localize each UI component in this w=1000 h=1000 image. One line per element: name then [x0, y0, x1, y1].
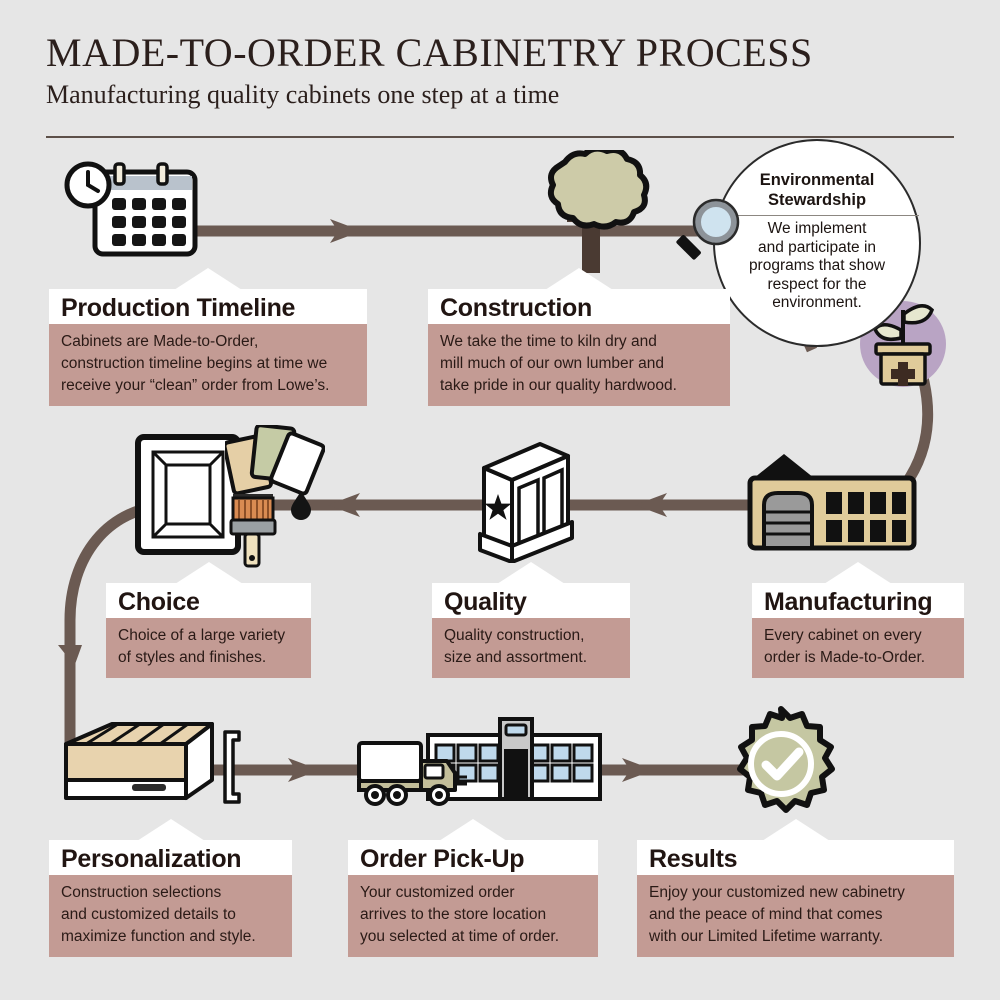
callout-title-line2: Stewardship [760, 191, 875, 210]
cabinet-pull-icon [215, 728, 249, 808]
card-title: Manufacturing [752, 583, 964, 618]
card-body-line: construction timeline begins at time we [61, 353, 355, 375]
card-title: Order Pick-Up [348, 840, 598, 875]
card-body-line: you selected at time of order. [360, 926, 586, 948]
card-body-line: Choice of a large variety [118, 625, 299, 647]
step-card-results[interactable]: Results Enjoy your customized new cabine… [637, 840, 954, 957]
card-body-line: Quality construction, [444, 625, 618, 647]
card-pointer [497, 562, 565, 584]
card-body-line: of styles and finishes. [118, 647, 299, 669]
callout-body-line: programs that show [749, 257, 885, 276]
card-title: Construction [428, 289, 730, 324]
factory-icon [742, 450, 922, 555]
callout-body-line: and participate in [749, 239, 885, 258]
callout-title-line1: Environmental [760, 171, 875, 190]
card-title: Results [637, 840, 954, 875]
calendar-clock-icon [60, 160, 210, 270]
callout-title: Environmental Stewardship [742, 171, 893, 210]
card-pointer [824, 562, 892, 584]
card-body-line: Construction selections [61, 882, 280, 904]
card-body-line: take pride in our quality hardwood. [440, 375, 718, 397]
step-card-manufacturing[interactable]: Manufacturing Every cabinet on every ord… [752, 583, 964, 678]
card-pointer [545, 268, 613, 290]
card-body-line: Every cabinet on every [764, 625, 952, 647]
paintbrush-icon [225, 490, 295, 570]
card-pointer [137, 819, 205, 841]
step-card-quality[interactable]: Quality Quality construction, size and a… [432, 583, 630, 678]
magnifier-icon [672, 198, 742, 270]
callout-divider [715, 215, 919, 216]
paint-drop-icon [288, 489, 314, 521]
infographic-canvas: MADE-TO-ORDER CABINETRY PROCESS Manufact… [0, 0, 1000, 1000]
card-body-line: Enjoy your customized new cabinetry [649, 882, 942, 904]
card-pointer [439, 819, 507, 841]
step-card-production-timeline[interactable]: Production Timeline Cabinets are Made-to… [49, 289, 367, 406]
step-card-construction[interactable]: Construction We take the time to kiln dr… [428, 289, 730, 406]
card-body-line: We take the time to kiln dry and [440, 331, 718, 353]
step-card-order-pick-up[interactable]: Order Pick-Up Your customized order arri… [348, 840, 598, 957]
drawer-icon [60, 722, 220, 807]
card-title: Quality [432, 583, 630, 618]
callout-body-line: We implement [749, 220, 885, 239]
card-pointer [174, 268, 242, 290]
card-body-line: arrives to the store location [360, 904, 586, 926]
card-pointer [762, 819, 830, 841]
environmental-stewardship-callout: Environmental Stewardship We implement a… [713, 139, 921, 347]
card-body: Every cabinet on every order is Made-to-… [752, 618, 964, 678]
card-body: Your customized order arrives to the sto… [348, 875, 598, 957]
card-body: Cabinets are Made-to-Order, construction… [49, 324, 367, 406]
card-body: Construction selections and customized d… [49, 875, 292, 957]
card-body-line: Cabinets are Made-to-Order, [61, 331, 355, 353]
card-body-line: receive your “clean” order from Lowe’s. [61, 375, 355, 397]
step-card-choice[interactable]: Choice Choice of a large variety of styl… [106, 583, 311, 678]
card-body-line: with our Limited Lifetime warranty. [649, 926, 942, 948]
callout-body-line: environment. [749, 294, 885, 313]
card-body: Quality construction, size and assortmen… [432, 618, 630, 678]
step-card-personalization[interactable]: Personalization Construction selections … [49, 840, 292, 957]
card-body-line: and the peace of mind that comes [649, 904, 942, 926]
card-title: Production Timeline [49, 289, 367, 324]
card-body-line: size and assortment. [444, 647, 618, 669]
callout-body-line: respect for the [749, 276, 885, 295]
callout-body: We implement and participate in programs… [733, 220, 901, 313]
check-badge-icon [722, 705, 840, 823]
card-body-line: Your customized order [360, 882, 586, 904]
card-title: Choice [106, 583, 311, 618]
card-body-line: mill much of our own lumber and [440, 353, 718, 375]
card-pointer [175, 562, 243, 584]
card-title: Personalization [49, 840, 292, 875]
card-body-line: maximize function and style. [61, 926, 280, 948]
card-body: Enjoy your customized new cabinetry and … [637, 875, 954, 957]
card-body: We take the time to kiln dry and mill mu… [428, 324, 730, 406]
delivery-truck-icon [355, 737, 480, 809]
card-body-line: order is Made-to-Order. [764, 647, 952, 669]
tree-icon [527, 150, 657, 275]
card-body: Choice of a large variety of styles and … [106, 618, 311, 678]
card-body-line: and customized details to [61, 904, 280, 926]
cabinet-icon [472, 438, 597, 563]
